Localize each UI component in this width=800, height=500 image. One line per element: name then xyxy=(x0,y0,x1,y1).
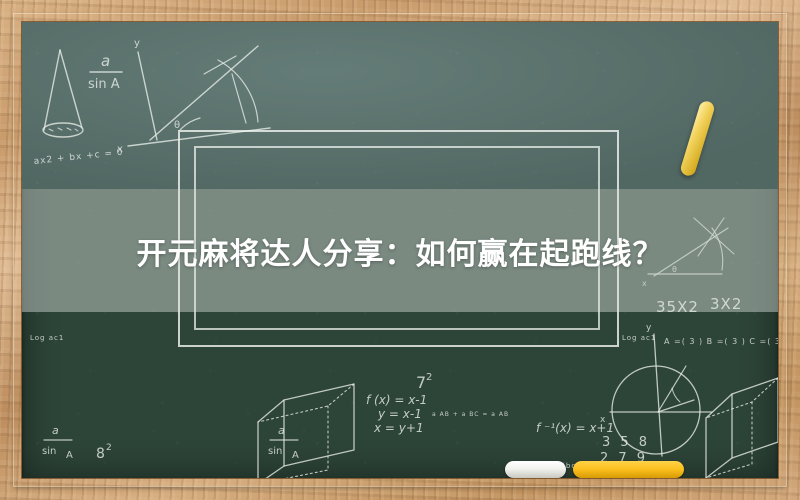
svg-text:3 5 8: 3 5 8 xyxy=(602,435,650,450)
cube-sketch xyxy=(258,384,354,478)
log-label-left: Log ac1 xyxy=(30,334,64,342)
svg-text:a: a xyxy=(52,424,59,437)
svg-text:f (x) = x-1: f (x) = x-1 xyxy=(366,393,427,407)
svg-text:A: A xyxy=(292,450,299,461)
svg-text:2: 2 xyxy=(426,372,432,383)
function-equations: f (x) = x-1 y = x-1 x = y+1 xyxy=(366,393,427,435)
power-eight: 8 2 xyxy=(96,443,112,462)
power-seven: 7 2 xyxy=(416,372,432,392)
svg-text:y: y xyxy=(646,323,652,333)
sine-rule-formula-center: a sin A xyxy=(268,424,299,461)
svg-text:a: a xyxy=(278,424,285,437)
tiny-equation: a AB + a BC = a AB xyxy=(432,411,509,418)
cube-sketch-2 xyxy=(706,378,778,478)
inverse-function: f ⁻¹(x) = x+1 xyxy=(536,421,614,435)
svg-text:sin: sin xyxy=(268,446,282,457)
svg-text:A: A xyxy=(66,450,73,461)
sine-rule-formula-left: a sin A xyxy=(42,424,73,461)
matrix-row: A =( 3 ) B =( 3 ) C =( 3 ) xyxy=(664,337,778,346)
chalkboard-surface: a sin A ax2 + bx +c = 0 y x θ xyxy=(22,22,778,478)
svg-text:8: 8 xyxy=(96,446,105,462)
svg-text:x: x xyxy=(600,415,606,425)
svg-text:y = x-1: y = x-1 xyxy=(377,407,422,421)
log-label-right: Log ac1 xyxy=(622,334,656,342)
chalk-yellow xyxy=(573,461,684,478)
svg-text:sin: sin xyxy=(42,446,56,457)
svg-text:2: 2 xyxy=(106,443,112,453)
blackboard-scene: a sin A ax2 + bx +c = 0 y x θ xyxy=(0,0,800,500)
page-title: 开元麻将达人分享：如何赢在起跑线？ xyxy=(22,189,778,312)
chalk-white xyxy=(505,461,566,478)
svg-text:x = y+1: x = y+1 xyxy=(373,421,424,435)
svg-text:7: 7 xyxy=(416,373,426,392)
